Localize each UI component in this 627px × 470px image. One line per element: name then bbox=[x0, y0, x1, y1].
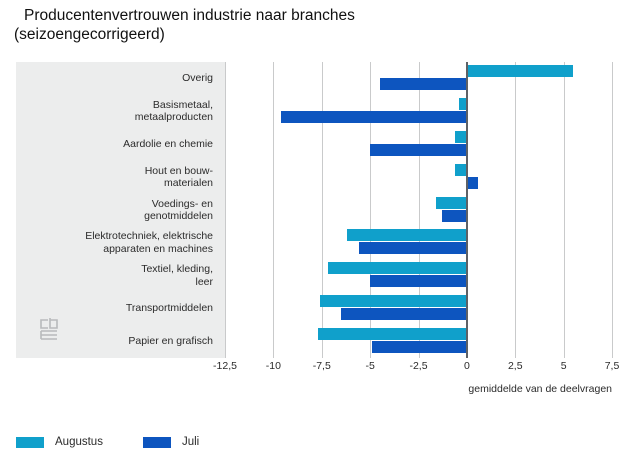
category-label-line: Voedings- en bbox=[23, 198, 213, 211]
x-axis-tick-label: 0 bbox=[464, 360, 470, 372]
x-axis-tick-label: -2,5 bbox=[409, 360, 427, 372]
legend-item[interactable]: Juli bbox=[143, 436, 199, 448]
category-label-line: Hout en bouw- bbox=[23, 165, 213, 178]
category-label-line: Papier en grafisch bbox=[23, 335, 213, 348]
bar-juli[interactable] bbox=[341, 308, 467, 320]
category-label-line: Basismetaal, bbox=[23, 99, 213, 112]
x-axis-ticks: -12,5-10-7,5-5-2,502,557,5 bbox=[16, 360, 612, 380]
bar-augustus[interactable] bbox=[318, 328, 467, 340]
x-axis-caption: gemiddelde van de deelvragen bbox=[468, 383, 612, 395]
legend-swatch bbox=[143, 437, 171, 448]
bar-augustus[interactable] bbox=[320, 295, 467, 307]
chart-row bbox=[225, 226, 612, 259]
bar-augustus[interactable] bbox=[467, 65, 573, 77]
chart-row bbox=[225, 128, 612, 161]
legend-swatch bbox=[16, 437, 44, 448]
plot-area bbox=[225, 62, 612, 358]
x-axis-tick-label: 7,5 bbox=[605, 360, 620, 372]
category-label-line: apparaten en machines bbox=[23, 243, 213, 256]
chart-container: OverigBasismetaal,metaalproductenAardoli… bbox=[16, 62, 612, 358]
category-label: Aardolie en chemie bbox=[23, 138, 213, 151]
chart-row bbox=[225, 62, 612, 95]
category-label-line: Textiel, kleding, bbox=[23, 263, 213, 276]
chart-row bbox=[225, 259, 612, 292]
x-axis-tick-label: -12,5 bbox=[213, 360, 237, 372]
category-label: Textiel, kleding,leer bbox=[23, 263, 213, 288]
chart-row bbox=[225, 161, 612, 194]
bar-juli[interactable] bbox=[281, 111, 467, 123]
bar-augustus[interactable] bbox=[347, 229, 467, 241]
chart-row bbox=[225, 194, 612, 227]
category-label-line: genotmiddelen bbox=[23, 210, 213, 223]
bar-juli[interactable] bbox=[372, 341, 467, 353]
chart-row bbox=[225, 325, 612, 358]
bar-augustus[interactable] bbox=[328, 262, 467, 274]
category-label-line: Aardolie en chemie bbox=[23, 138, 213, 151]
bar-juli[interactable] bbox=[467, 177, 479, 189]
legend-label: Augustus bbox=[55, 436, 103, 448]
gridline bbox=[612, 62, 613, 358]
category-label-line: Transportmiddelen bbox=[23, 302, 213, 315]
chart-legend: AugustusJuli bbox=[16, 432, 239, 452]
legend-label: Juli bbox=[182, 436, 199, 448]
category-label: Transportmiddelen bbox=[23, 302, 213, 315]
x-axis-tick-label: -5 bbox=[365, 360, 374, 372]
category-label: Papier en grafisch bbox=[23, 335, 213, 348]
category-label-line: Elektrotechniek, elektrische bbox=[23, 230, 213, 243]
category-label: Basismetaal,metaalproducten bbox=[23, 99, 213, 124]
category-label: Hout en bouw-materialen bbox=[23, 165, 213, 190]
category-label: Voedings- engenotmiddelen bbox=[23, 198, 213, 223]
bar-juli[interactable] bbox=[370, 144, 467, 156]
category-label-panel: OverigBasismetaal,metaalproductenAardoli… bbox=[16, 62, 225, 358]
page-title: Producentenvertrouwen industrie naar bra… bbox=[14, 6, 614, 44]
category-label: Overig bbox=[23, 72, 213, 85]
bar-augustus[interactable] bbox=[436, 197, 467, 209]
category-label-line: metaalproducten bbox=[23, 111, 213, 124]
bar-juli[interactable] bbox=[442, 210, 467, 222]
x-axis-tick-label: -10 bbox=[266, 360, 281, 372]
bar-juli[interactable] bbox=[370, 275, 467, 287]
page-title-line-2: (seizoengecorrigeerd) bbox=[14, 25, 614, 44]
x-axis-tick-label: 2,5 bbox=[508, 360, 523, 372]
bar-juli[interactable] bbox=[380, 78, 467, 90]
chart-row bbox=[225, 95, 612, 128]
x-axis-tick-label: -7,5 bbox=[313, 360, 331, 372]
legend-item[interactable]: Augustus bbox=[16, 436, 103, 448]
category-label-line: Overig bbox=[23, 72, 213, 85]
bar-juli[interactable] bbox=[359, 242, 467, 254]
zero-axis-line bbox=[466, 62, 468, 358]
page-title-line-1: Producentenvertrouwen industrie naar bra… bbox=[14, 6, 614, 25]
x-axis-tick-label: 5 bbox=[561, 360, 567, 372]
category-label-line: materialen bbox=[23, 177, 213, 190]
category-label: Elektrotechniek, elektrischeapparaten en… bbox=[23, 230, 213, 255]
category-label-line: leer bbox=[23, 276, 213, 289]
chart-row bbox=[225, 292, 612, 325]
